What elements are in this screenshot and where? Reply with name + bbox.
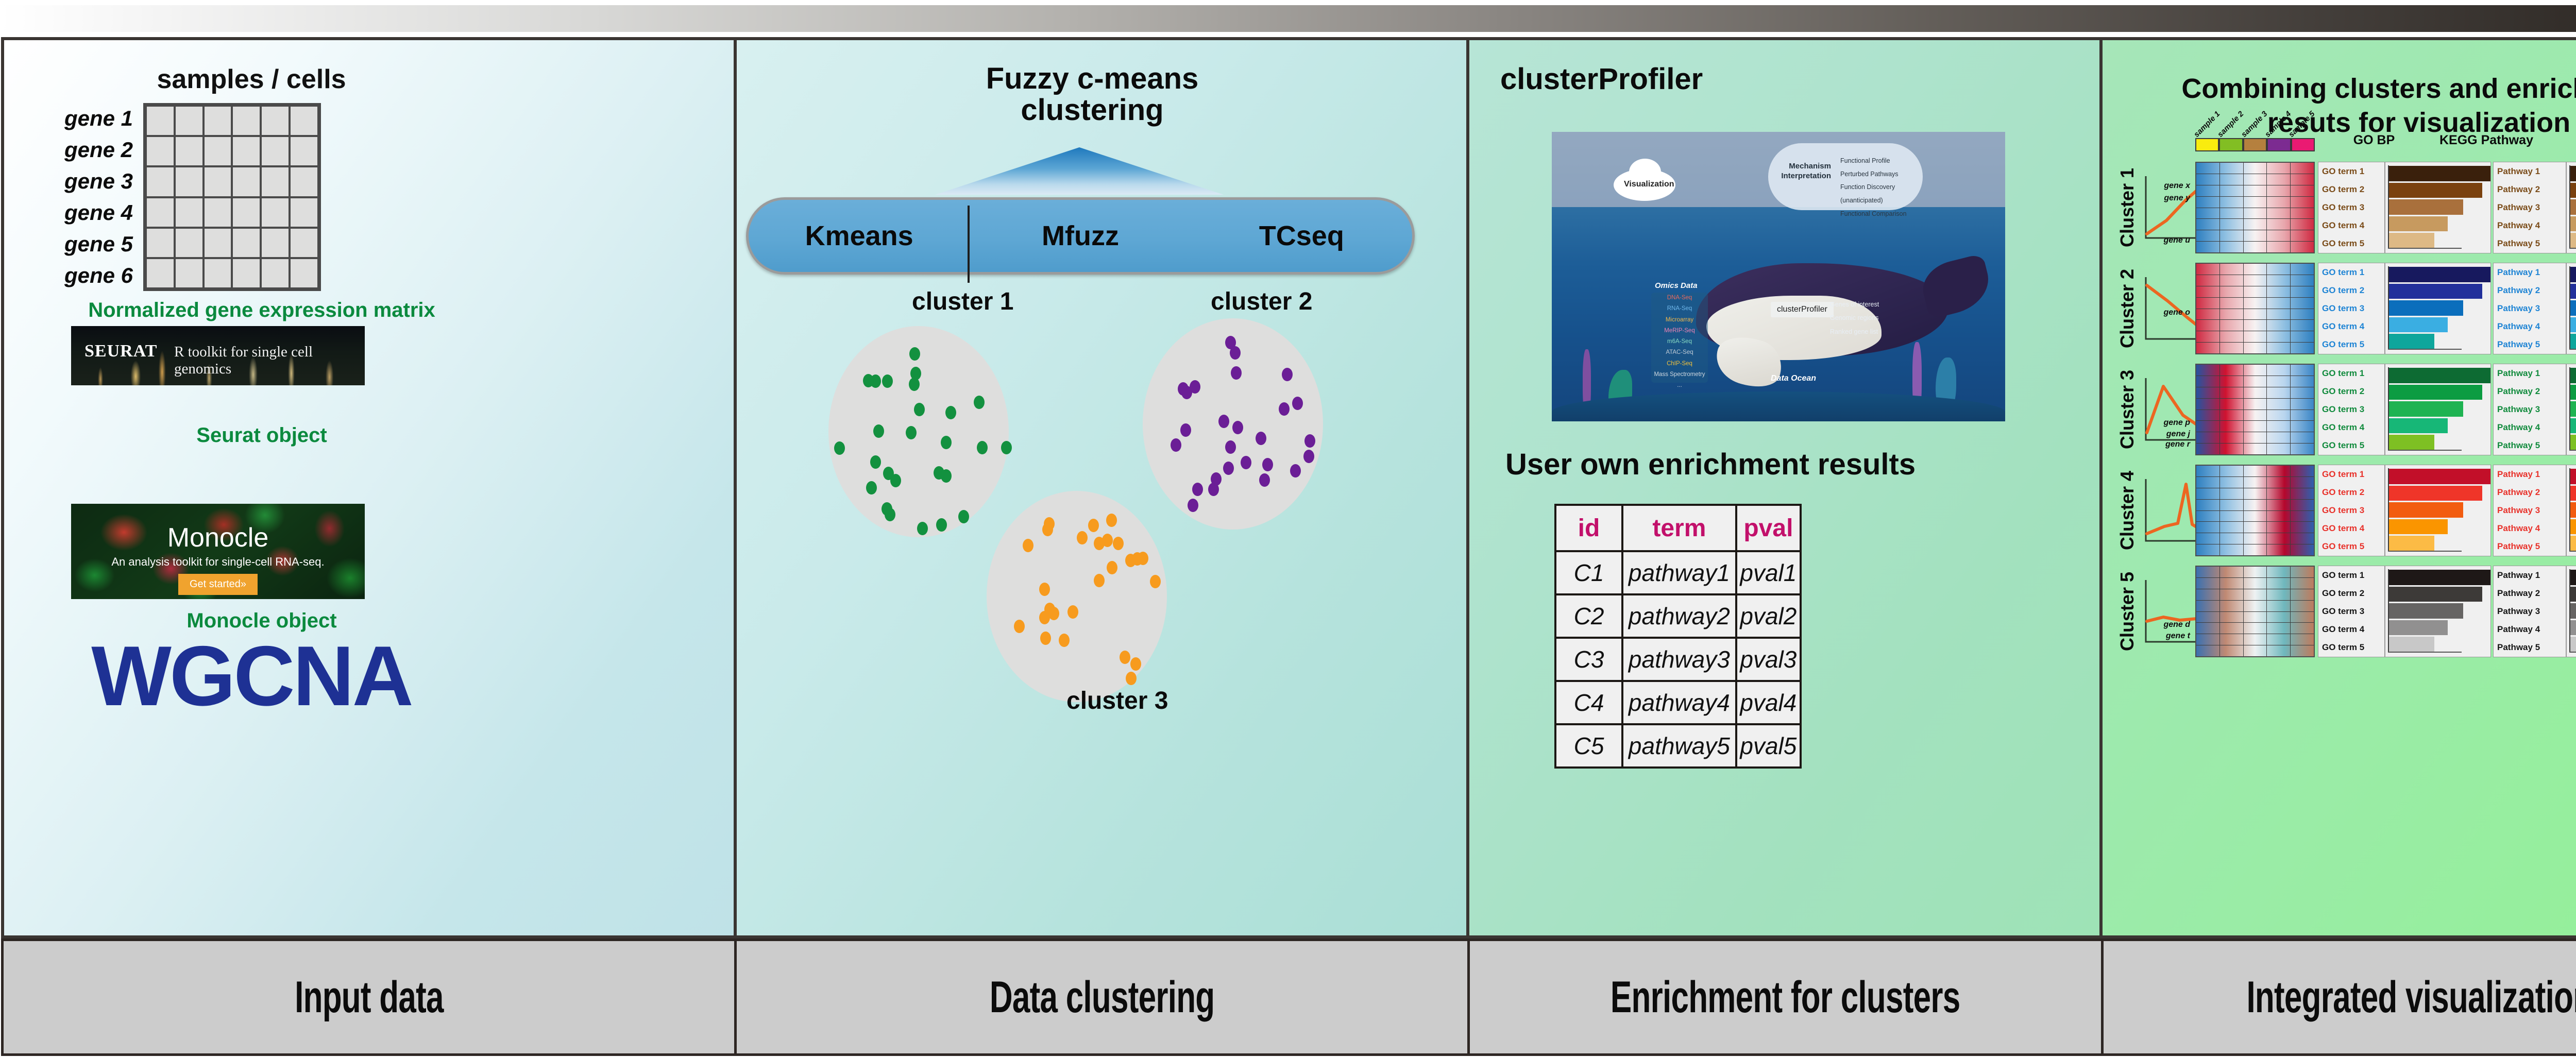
fuzzy-cmeans-title: Fuzzy c-means clustering [933, 63, 1252, 126]
table-cell: C2 [1555, 594, 1622, 638]
heatmap-cell [2244, 197, 2267, 208]
bar-row [2388, 401, 2490, 417]
kegg-pathway-label: Pathway 5 [2494, 235, 2566, 253]
go-term-label: GO term 1 [2318, 465, 2384, 483]
go-term-label: GO term 3 [2318, 198, 2384, 216]
heatmap-row [2196, 601, 2314, 612]
heatmap-cell [2196, 466, 2220, 476]
heatmap-cell [2244, 264, 2267, 275]
enrichment-bar [2570, 536, 2576, 551]
clusterprofiler-figure: Visualization Mechanism Interpretation F… [1552, 132, 2005, 421]
gene-row-label-1: gene 1 [45, 103, 138, 134]
enrichment-bar [2570, 620, 2576, 635]
bar-axis-horizontal [2388, 652, 2462, 653]
table-row: C2pathway2pval2 [1555, 594, 1801, 638]
cluster-point [1211, 472, 1222, 486]
heatmap-cell [2244, 275, 2267, 286]
bar-axis-horizontal [2569, 349, 2576, 350]
cluster-point [873, 424, 884, 438]
heatmap-cell [2220, 544, 2244, 555]
omics-item-4: m6A-Seq [1651, 336, 1708, 347]
heatmap-row [2196, 421, 2314, 432]
cluster-point [1094, 574, 1105, 587]
bar-row [2388, 384, 2490, 400]
enrichment-bar [2570, 183, 2576, 198]
bar-row [2570, 535, 2576, 552]
cluster-point [1256, 432, 1266, 445]
heatmap-cell [2196, 589, 2220, 600]
cluster-point [1181, 386, 1192, 399]
enrichment-bar [2570, 300, 2576, 315]
caption-seurat-object: Seurat object [20, 424, 504, 447]
heatmap-cell [2244, 343, 2267, 353]
mechanism-items-list: Functional Profile Perturbed Pathways Fu… [1840, 155, 1907, 220]
footer-integrated-viz: Integrated visualization [2101, 939, 2576, 1056]
go-term-label: GO term 2 [2318, 180, 2384, 198]
heatmap-cell [2220, 511, 2244, 522]
gobp-panel-3: GO term 1GO term 2GO term 3GO term 4GO t… [2318, 364, 2491, 455]
term-label-column: GO term 1GO term 2GO term 3GO term 4GO t… [2318, 263, 2385, 354]
heatmap-cell [2291, 219, 2314, 230]
kegg-panel-1: Pathway 1Pathway 2Pathway 3Pathway 4Path… [2493, 162, 2576, 253]
heatmap-cell [2244, 612, 2267, 623]
cluster-blob-3 [987, 491, 1167, 702]
kegg-pathway-label: Pathway 2 [2494, 180, 2566, 198]
bar-row [2388, 586, 2490, 602]
cluster-point [910, 367, 921, 380]
omics-item-1: RNA-Seq [1651, 303, 1708, 314]
heatmap-cell [2196, 208, 2220, 219]
heatmap-cell [2267, 376, 2291, 387]
kegg-pathway-label: Pathway 4 [2494, 217, 2566, 235]
omics-item-7: Mass Spectrometry [1651, 369, 1708, 380]
matrix-cell [261, 136, 290, 166]
algorithm-tcseq[interactable]: TCseq [1191, 220, 1412, 252]
matrix-cell [290, 228, 318, 258]
heatmap-cell [2267, 488, 2291, 499]
bar-row [2388, 266, 2490, 283]
omics-item-6: ChIP-Seq [1651, 359, 1708, 369]
term-label-column: GO term 1GO term 2GO term 3GO term 4GO t… [2318, 465, 2385, 556]
heatmap-cell [2244, 219, 2267, 230]
table-cell: C1 [1555, 551, 1622, 594]
heatmap-cell [2244, 477, 2267, 488]
heatmap-cell [2291, 275, 2314, 286]
matrix-cell [261, 258, 290, 288]
cluster-point [909, 347, 920, 361]
heatmap-cell [2196, 477, 2220, 488]
heatmap-cell [2220, 197, 2244, 208]
bar-axis-vertical [2388, 367, 2389, 450]
heatmap-cell [2220, 309, 2244, 320]
arrow-shaft [0, 5, 2576, 32]
heatmap-gene-label: gene u [2149, 236, 2190, 245]
matrix-cell [290, 197, 318, 228]
cluster-point [1067, 605, 1078, 619]
heatmap-row [2196, 567, 2314, 578]
heatmap-cell [2196, 286, 2220, 297]
bar-row [2570, 417, 2576, 434]
heatmap-cell [2291, 623, 2314, 634]
bar-row [2388, 215, 2490, 232]
algorithm-kmeans[interactable]: Kmeans [749, 220, 970, 252]
heatmap-cell [2220, 331, 2244, 342]
monocle-subtitle: An analysis toolkit for single-cell RNA-… [71, 555, 365, 569]
heatmap-gene-label: gene y [2149, 194, 2190, 203]
heatmap-cell [2220, 365, 2244, 376]
heatmap-cell [2220, 343, 2244, 353]
bar-axis-vertical [2388, 468, 2389, 551]
go-term-label: GO term 2 [2318, 584, 2384, 602]
matrix-cell [232, 228, 261, 258]
table-cell: C4 [1555, 681, 1622, 724]
wgcna-logo-text: WGCNA [4, 627, 499, 725]
heatmap-cell [2291, 578, 2314, 589]
cluster-row-label-4: Cluster 4 [2115, 463, 2140, 558]
heatmap-cell [2267, 612, 2291, 623]
heatmap-cell [2267, 163, 2291, 174]
cluster-label-text: Cluster 1 [2116, 168, 2138, 247]
heatmap-row [2196, 578, 2314, 589]
heatmap-cell [2267, 432, 2291, 443]
heatmap-cell [2291, 589, 2314, 600]
bar-row [2570, 434, 2576, 451]
heatmap-cell [2291, 331, 2314, 342]
cluster-row-1: Cluster 1gene xgene ygene uGO term 1GO t… [2115, 160, 2576, 255]
heatmap-cell [2267, 275, 2291, 286]
bar-row [2570, 468, 2576, 485]
enrichment-bar [2388, 637, 2434, 652]
heatmap-cell [2291, 544, 2314, 555]
term-label-column: Pathway 1Pathway 2Pathway 3Pathway 4Path… [2494, 465, 2567, 556]
cluster-point [1292, 397, 1303, 410]
kegg-pathway-label: Pathway 4 [2494, 520, 2566, 538]
heatmap-cell [2267, 444, 2291, 454]
gene-row-label-5: gene 5 [45, 228, 138, 260]
bar-row [2388, 434, 2490, 451]
cluster-point [958, 510, 969, 523]
heatmap-row [2196, 544, 2314, 555]
bar-row [2570, 502, 2576, 518]
matrix-cell [146, 228, 175, 258]
monocle-get-started-button[interactable]: Get started» [178, 574, 258, 595]
enrichment-bar [2570, 587, 2576, 602]
heatmap-row [2196, 533, 2314, 544]
enrichment-bar-chart [2567, 263, 2576, 354]
heatmap-cell [2267, 298, 2291, 309]
bar-row [2388, 232, 2490, 249]
table-cell: pval4 [1736, 681, 1801, 724]
heatmap-cell [2196, 275, 2220, 286]
heatmap-cell [2244, 511, 2267, 522]
heatmap-cell [2291, 410, 2314, 421]
expression-matrix [143, 103, 321, 291]
cluster-point [1171, 438, 1181, 452]
heatmap-row [2196, 230, 2314, 242]
panel-data-clustering: Fuzzy c-means clustering Kmeans Mfuzz TC… [734, 37, 1469, 939]
heatmap-cell [2244, 421, 2267, 432]
heatmap-row [2196, 645, 2314, 656]
heatmap-cell [2267, 399, 2291, 410]
kegg-pathway-label: Pathway 1 [2494, 364, 2566, 382]
gobp-panel-5: GO term 1GO term 2GO term 3GO term 4GO t… [2318, 566, 2491, 657]
bar-row [2570, 182, 2576, 198]
go-term-label: GO term 3 [2318, 299, 2384, 317]
enrichment-bar [2570, 570, 2576, 585]
heatmap-cell [2220, 275, 2244, 286]
cluster-heatmap-2 [2195, 263, 2315, 354]
kegg-pathway-label: Pathway 3 [2494, 501, 2566, 519]
enrichment-bar-chart [2385, 162, 2490, 253]
cluster-point [1094, 537, 1105, 550]
kegg-pathway-label: Pathway 1 [2494, 263, 2566, 281]
heatmap-cell [2267, 242, 2291, 252]
heatmap-cell [2267, 567, 2291, 577]
matrix-cell [261, 228, 290, 258]
matrix-cell [175, 166, 204, 197]
fuzzy-title-line2: clustering [933, 95, 1252, 126]
footer-input-data: Input data [1, 939, 737, 1056]
cluster-row-label-2: Cluster 2 [2115, 261, 2140, 356]
heatmap-cell [2220, 522, 2244, 533]
heatmap-row [2196, 298, 2314, 309]
heatmap-cell [2196, 298, 2220, 309]
kegg-pathway-label: Pathway 1 [2494, 566, 2566, 584]
omics-data-box: DNA-Seq RNA-Seq Microarray MeRIP-Seq m6A… [1651, 293, 1708, 383]
heatmap-cell [2220, 578, 2244, 589]
heatmap-cell [2291, 612, 2314, 623]
heatmap-cell [2196, 343, 2220, 353]
monocle-banner-image: Monocle An analysis toolkit for single-c… [71, 504, 365, 599]
matrix-cell [290, 106, 318, 136]
heatmap-cell [2267, 421, 2291, 432]
bar-row [2388, 333, 2490, 350]
bar-row [2388, 569, 2490, 586]
heatmap-cell [2196, 511, 2220, 522]
heatmap-cell [2291, 365, 2314, 376]
heatmap-row [2196, 174, 2314, 185]
enrichment-bar-chart [2385, 566, 2490, 657]
cluster-point [1126, 672, 1137, 685]
term-label-column: Pathway 1Pathway 2Pathway 3Pathway 4Path… [2494, 566, 2567, 657]
cluster-point [1130, 657, 1141, 671]
table-cell: pval3 [1736, 638, 1801, 681]
heatmap-cell [2220, 298, 2244, 309]
heatmap-row [2196, 500, 2314, 511]
matrix-cell [261, 197, 290, 228]
enrichment-bar-chart [2567, 566, 2576, 657]
bar-axis-horizontal [2388, 248, 2462, 249]
cluster-point [1106, 514, 1117, 527]
matrix-cell [175, 197, 204, 228]
bar-row [2570, 485, 2576, 501]
enrichment-bar [2570, 401, 2576, 416]
seurat-tagline: R toolkit for single cell genomics [174, 344, 365, 378]
heatmap-cell [2267, 466, 2291, 476]
heatmap-cell [2267, 320, 2291, 331]
panel-integrated-visualization: Combining clusters and enrichment resuts… [2099, 37, 2576, 939]
enrichment-bar [2388, 587, 2482, 602]
enrichment-bar [2388, 519, 2448, 534]
user-enrichment-title: User own enrichment results [1505, 447, 1916, 482]
heatmap-cell [2244, 634, 2267, 645]
kegg-pathway-label: Pathway 2 [2494, 584, 2566, 602]
heatmap-cell [2267, 477, 2291, 488]
kegg-pathway-label: Pathway 1 [2494, 465, 2566, 483]
enrichment-bar-chart [2385, 263, 2490, 354]
heatmap-cell [2220, 612, 2244, 623]
mechanism-item-3: (unanticipated) [1840, 194, 1907, 208]
heatmap-cell [2196, 444, 2220, 454]
mechanism-item-2: Function Discovery [1840, 181, 1907, 194]
heatmap-row [2196, 612, 2314, 623]
table-cell: pathway2 [1622, 594, 1736, 638]
cluster-point [1241, 456, 1251, 469]
heatmap-cell [2267, 365, 2291, 376]
th-term: term [1622, 505, 1736, 551]
heatmap-cell [2267, 185, 2291, 196]
matrix-cell [232, 106, 261, 136]
heatmap-cell [2196, 174, 2220, 185]
cluster-point [1290, 464, 1301, 478]
enrichment-bar [2570, 317, 2576, 332]
cluster-point [1279, 402, 1290, 416]
heatmap-cell [2244, 544, 2267, 555]
enrichment-bar [2388, 418, 2448, 433]
heatmap-cell [2267, 309, 2291, 320]
matrix-cell [204, 197, 232, 228]
cluster-point [882, 374, 893, 388]
bar-row [2570, 333, 2576, 350]
heatmap-cell [2267, 578, 2291, 589]
kegg-pathway-label: Pathway 3 [2494, 400, 2566, 418]
cluster-row-label-3: Cluster 3 [2115, 362, 2140, 457]
heatmap-cell [2244, 589, 2267, 600]
bar-row [2570, 316, 2576, 333]
matrix-cell [204, 166, 232, 197]
enrichment-bar [2388, 199, 2463, 214]
go-term-label: GO term 4 [2318, 318, 2384, 336]
stage-labels-row: Input data Data clustering Enrichment fo… [1, 939, 2576, 1056]
heatmap-cell [2291, 511, 2314, 522]
algorithm-mfuzz[interactable]: Mfuzz [970, 220, 1191, 252]
heatmap-row [2196, 365, 2314, 376]
bar-row [2388, 468, 2490, 485]
heatmap-cell [2220, 589, 2244, 600]
input-types-list: Genes of interest Genomic regions Ranked… [1830, 298, 1879, 338]
heatmap-cell [2267, 634, 2291, 645]
enrichment-bar [2388, 233, 2434, 248]
omics-item-3: MeRIP-Seq [1651, 326, 1708, 336]
cluster-point [906, 426, 917, 439]
cluster-point [1192, 483, 1203, 496]
heatmap-cell [2291, 320, 2314, 331]
data-ocean-label: Data Ocean [1771, 374, 1816, 383]
matrix-cell [146, 258, 175, 288]
gobp-panel-1: GO term 1GO term 2GO term 3GO term 4GO t… [2318, 162, 2491, 253]
heatmap-cell [2196, 320, 2220, 331]
visualization-label: Visualization [1624, 180, 1674, 189]
heatmap-cell [2291, 421, 2314, 432]
mechanism-title-line1: Mechanism [1774, 162, 1831, 172]
heatmap-cell [2291, 309, 2314, 320]
clusterprofiler-title: clusterProfiler [1500, 62, 1703, 96]
kegg-pathway-label: Pathway 5 [2494, 336, 2566, 354]
enrichment-bar [2388, 216, 2448, 231]
heatmap-row [2196, 376, 2314, 387]
enrichment-bar [2570, 486, 2576, 501]
heatmap-cell [2244, 387, 2267, 398]
heatmap-cell [2267, 544, 2291, 555]
cluster-point [1282, 368, 1293, 381]
go-term-label: GO term 4 [2318, 419, 2384, 437]
table-row: C1pathway1pval1 [1555, 551, 1801, 594]
cluster-point [1218, 415, 1229, 428]
go-term-label: GO term 4 [2318, 621, 2384, 639]
term-label-column: Pathway 1Pathway 2Pathway 3Pathway 4Path… [2494, 162, 2567, 253]
heatmap-row [2196, 488, 2314, 500]
bar-row [2570, 384, 2576, 400]
heatmap-cell [2220, 623, 2244, 634]
cluster-blob-2 [1143, 318, 1323, 530]
gobp-panel-2: GO term 1GO term 2GO term 3GO term 4GO t… [2318, 263, 2491, 354]
bar-row [2570, 215, 2576, 232]
omics-item-2: Microarray [1651, 315, 1708, 326]
heatmap-cell [2220, 421, 2244, 432]
sample-color-legend [2195, 138, 2315, 151]
cluster-point [914, 403, 925, 416]
bar-axis-horizontal [2388, 349, 2462, 350]
heatmap-cell [2196, 488, 2220, 499]
heatmap-row [2196, 309, 2314, 320]
enrichment-bar-chart [2385, 364, 2490, 455]
bar-row [2388, 535, 2490, 552]
term-label-column: GO term 1GO term 2GO term 3GO term 4GO t… [2318, 162, 2385, 253]
heatmap-cell [2267, 645, 2291, 656]
workflow-panels: samples / cells gene 1gene 2gene 3gene 4… [1, 37, 2576, 939]
heatmap-cell [2220, 399, 2244, 410]
heatmap-cell [2196, 578, 2220, 589]
enrichment-results-table: id term pval C1pathway1pval1C2pathway2pv… [1554, 504, 1802, 769]
table-row: C3pathway3pval3 [1555, 638, 1801, 681]
heatmap-cell [2244, 645, 2267, 656]
cluster-point [936, 518, 947, 532]
table-cell: C5 [1555, 724, 1622, 768]
heatmap-cell [2220, 645, 2244, 656]
bar-row [2570, 165, 2576, 182]
heatmap-cell [2291, 230, 2314, 241]
heatmap-row [2196, 197, 2314, 208]
bar-row [2570, 232, 2576, 249]
matrix-cell [175, 258, 204, 288]
heatmap-cell [2291, 185, 2314, 196]
matrix-cell [290, 258, 318, 288]
heatmap-cell [2244, 320, 2267, 331]
enrichment-bar [2570, 166, 2576, 181]
heatmap-cell [2220, 466, 2244, 476]
cluster-point [1188, 499, 1198, 512]
matrix-cell [290, 136, 318, 166]
heatmap-cell [2220, 567, 2244, 577]
kegg-pathway-label: Pathway 2 [2494, 483, 2566, 501]
enrichment-bar-chart [2385, 465, 2490, 556]
term-label-column: GO term 1GO term 2GO term 3GO term 4GO t… [2318, 566, 2385, 657]
matrix-cell [146, 197, 175, 228]
cluster-point [1180, 423, 1191, 437]
seurat-banner-image: SEURAT R toolkit for single cell genomic… [71, 326, 365, 385]
matrix-cell [204, 136, 232, 166]
heatmap-cell [2196, 601, 2220, 611]
